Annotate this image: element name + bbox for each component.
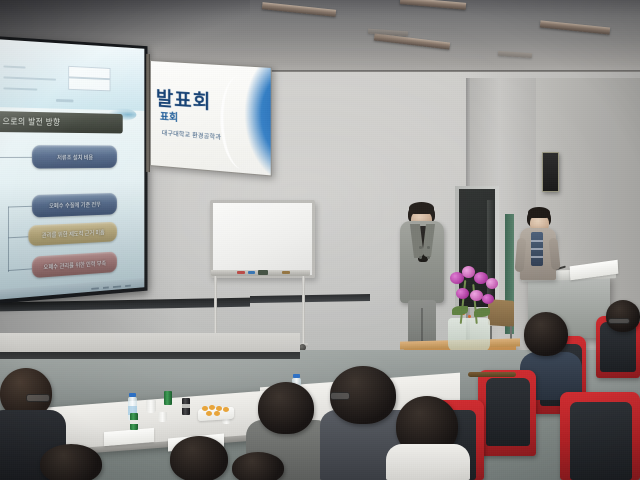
- audience-head: [232, 452, 284, 480]
- slide-node-label: 관리를 위한 제도적 근거 미흡: [42, 228, 105, 240]
- shirt-stripe: [531, 240, 543, 242]
- audience-head: [170, 436, 228, 480]
- whiteboard-marker[interactable]: [248, 271, 255, 274]
- bottle-cap: [129, 393, 136, 397]
- slide-node-2: 오폐수 수질에 기준 전무: [32, 193, 117, 218]
- speaker-hair-fringe: [528, 207, 550, 218]
- flower-wrapping: [448, 318, 490, 352]
- slide-node-label: 오폐수 관리를 위한 인력 부족: [43, 258, 106, 271]
- orchid-bloom: [462, 266, 475, 278]
- slide-node-1: 저류조 설치 비용: [32, 146, 117, 169]
- whiteboard-eraser[interactable]: [258, 270, 268, 275]
- event-banner: 발표회 표회 대구대학교 환경공학과: [150, 60, 272, 177]
- paper-cup[interactable]: [146, 400, 156, 413]
- coat-button: [419, 256, 422, 259]
- presenter-hair-fringe: [409, 202, 434, 214]
- auditorium-seat-cushion[interactable]: [570, 402, 632, 480]
- stage-riser-edge: [0, 352, 300, 359]
- can-label-band: [182, 404, 190, 408]
- banner-subtitle-text: 표회: [160, 108, 178, 124]
- audience-head: [40, 444, 102, 480]
- slide-connector-line: [8, 206, 32, 208]
- beverage-can[interactable]: [164, 391, 172, 405]
- whiteboard[interactable]: [210, 200, 315, 278]
- photo-scene: 으로의 발전 방향 저류조 설치 비용 오폐수 수질에 기준 전무 관리를 위한…: [0, 0, 640, 480]
- eyeglasses-icon: [608, 318, 630, 324]
- green-foliage: [474, 308, 490, 317]
- fruit-piece: [209, 405, 215, 410]
- orchid-bloom: [482, 294, 494, 304]
- audience-head: [258, 382, 314, 434]
- eyeglasses-icon: [330, 392, 350, 400]
- bottle-cap: [293, 374, 300, 378]
- audience-head: [524, 312, 568, 356]
- slide-node-3: 관리를 위한 제도적 근거 미흡: [28, 221, 116, 246]
- wooden-chair[interactable]: [488, 299, 514, 327]
- audience-head: [606, 300, 640, 332]
- wall-speaker-icon: [542, 152, 559, 192]
- paper-cup[interactable]: [158, 412, 167, 422]
- whiteboard-stand-leg: [302, 276, 305, 348]
- audience-shoulders: [386, 444, 470, 480]
- slide-node-label: 오폐수 수질에 기준 전무: [49, 200, 101, 210]
- green-foliage: [452, 306, 468, 315]
- auditorium-seat-cushion[interactable]: [486, 378, 530, 446]
- berry-accent: [468, 315, 471, 318]
- seat-armrest: [468, 372, 516, 377]
- slide-body: 으로의 발전 방향 저류조 설치 비용 오폐수 수질에 기준 전무 관리를 위한…: [0, 107, 144, 300]
- banner-organization-text: 대구대학교 환경공학과: [162, 128, 221, 142]
- fruit-piece: [223, 407, 229, 412]
- whiteboard-marker[interactable]: [282, 271, 290, 274]
- shirt-stripe: [531, 248, 543, 250]
- coat-button: [427, 246, 430, 249]
- slide-connector-line: [8, 207, 9, 272]
- slide-node-label: 저류조 설치 비용: [57, 153, 93, 162]
- slide-connector-line: [8, 268, 32, 271]
- slide-title-bar: 으로의 발전 방향: [0, 111, 122, 134]
- eyeglasses-icon: [26, 394, 50, 402]
- slide-header-region: [0, 39, 144, 111]
- orchid-bloom: [456, 288, 469, 299]
- banner-support-pole: [146, 54, 150, 172]
- slide-connector-line: [0, 157, 32, 158]
- shirt-stripe: [531, 256, 543, 258]
- fruit-piece: [214, 411, 220, 416]
- projection-screen: 으로의 발전 방향 저류조 설치 비용 오폐수 수질에 기준 전무 관리를 위한…: [0, 36, 147, 304]
- fruit-piece: [206, 411, 212, 416]
- projection-surface: 으로의 발전 방향 저류조 설치 비용 오폐수 수질에 기준 전무 관리를 위한…: [0, 39, 144, 300]
- whiteboard-marker[interactable]: [237, 271, 245, 274]
- orchid-bloom: [486, 278, 498, 289]
- coat-button: [427, 256, 430, 259]
- slide-title-text: 으로의 발전 방향: [0, 115, 60, 128]
- coat-button: [419, 246, 422, 249]
- can-label-band: [130, 420, 138, 424]
- slide-node-4: 오폐수 관리를 위한 인력 부족: [32, 252, 117, 278]
